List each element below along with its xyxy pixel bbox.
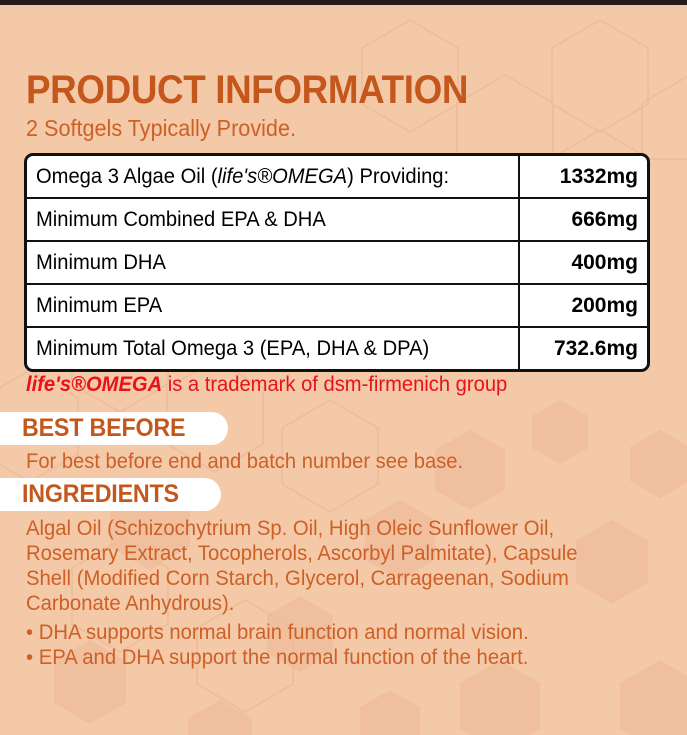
top-edge-bar <box>0 0 687 5</box>
trademark-name: life's®OMEGA <box>26 373 162 396</box>
health-claim-item: • DHA supports normal brain function and… <box>26 620 605 645</box>
nutrient-name-suffix: ) Providing: <box>347 165 449 188</box>
nutrition-table: Omega 3 Algae Oil (life's®OMEGA) Providi… <box>24 153 650 372</box>
serving-subtitle: 2 Softgels Typically Provide. <box>26 115 296 142</box>
nutrient-name-cell: Minimum DHA <box>27 242 518 283</box>
table-row: Minimum Total Omega 3 (EPA, DHA & DPA) 7… <box>27 328 647 369</box>
nutrient-name-prefix: Minimum DHA <box>36 251 166 275</box>
nutrient-name-trademark: life's®OMEGA <box>218 165 348 188</box>
ingredients-badge: INGREDIENTS <box>0 478 221 511</box>
nutrient-name-cell: Minimum Combined EPA & DHA <box>27 199 518 240</box>
table-row: Minimum DHA 400mg <box>27 242 647 285</box>
product-information-label: PRODUCT INFORMATION 2 Softgels Typically… <box>0 0 687 735</box>
best-before-badge-label: BEST BEFORE <box>22 414 185 443</box>
best-before-badge: BEST BEFORE <box>0 412 228 445</box>
table-row: Minimum Combined EPA & DHA 666mg <box>27 199 647 242</box>
trademark-rest: is a trademark of dsm-firmenich group <box>162 373 507 396</box>
nutrient-name-prefix: Minimum EPA <box>36 294 162 318</box>
trademark-notice: life's®OMEGA is a trademark of dsm-firme… <box>26 373 507 397</box>
nutrient-name-cell: Omega 3 Algae Oil (life's®OMEGA) Providi… <box>27 156 518 197</box>
health-claim-item: • EPA and DHA support the normal functio… <box>26 645 605 670</box>
table-row: Omega 3 Algae Oil (life's®OMEGA) Providi… <box>27 156 647 199</box>
nutrient-name-cell: Minimum Total Omega 3 (EPA, DHA & DPA) <box>27 328 518 369</box>
nutrient-name-prefix: Omega 3 Algae Oil ( <box>36 165 218 188</box>
nutrient-amount-cell: 732.6mg <box>518 328 647 369</box>
nutrient-amount-cell: 666mg <box>518 199 647 240</box>
page-title: PRODUCT INFORMATION <box>26 68 468 113</box>
ingredients-badge-label: INGREDIENTS <box>22 480 179 509</box>
nutrient-amount-cell: 200mg <box>518 285 647 326</box>
health-claims-list: • DHA supports normal brain function and… <box>26 620 605 670</box>
table-row: Minimum EPA 200mg <box>27 285 647 328</box>
nutrient-amount-cell: 400mg <box>518 242 647 283</box>
nutrient-amount-cell: 1332mg <box>518 156 647 197</box>
nutrient-name-cell: Minimum EPA <box>27 285 518 326</box>
nutrient-name-prefix: Minimum Combined EPA & DHA <box>36 208 326 232</box>
nutrient-name-prefix: Minimum Total Omega 3 (EPA, DHA & DPA) <box>36 337 429 361</box>
best-before-text: For best before end and batch number see… <box>26 450 463 474</box>
ingredients-text: Algal Oil (Schizochytrium Sp. Oil, High … <box>26 516 605 616</box>
